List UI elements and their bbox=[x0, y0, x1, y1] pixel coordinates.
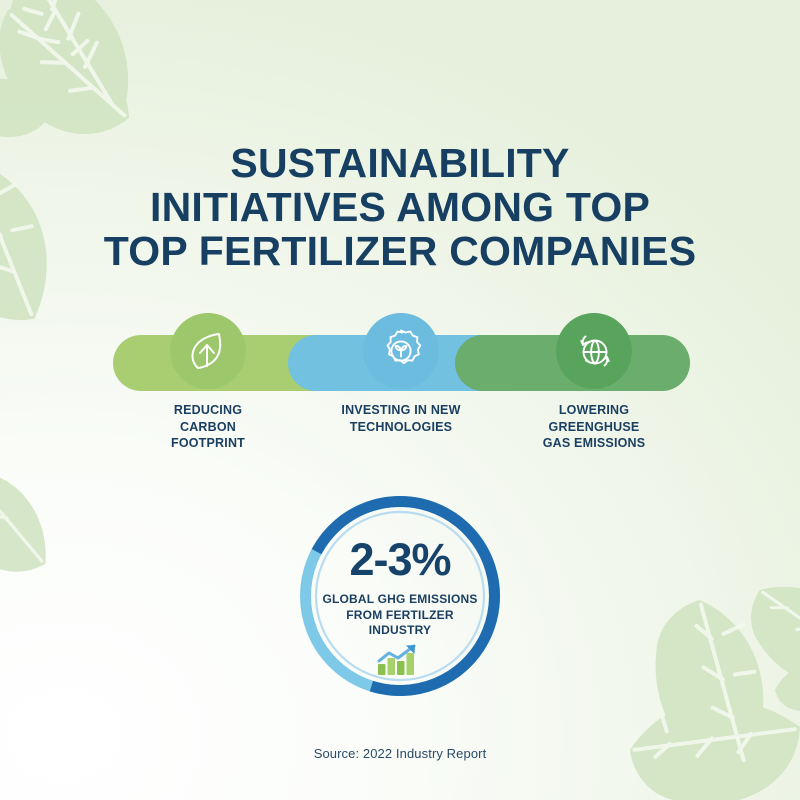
step-badge-3 bbox=[556, 313, 632, 389]
step-badge-1 bbox=[170, 313, 246, 389]
title-line-3: TOP FERTILIZER COMPANIES bbox=[0, 229, 800, 273]
source-note: Source: 2022 Industry Report bbox=[0, 746, 800, 761]
steps-band bbox=[0, 335, 800, 395]
step-label-3: LOWERING GREENGHUSE GAS EMISSIONS bbox=[494, 402, 694, 452]
globe-recycle-icon bbox=[571, 328, 617, 374]
title-line-1: SUSTAINABILITY bbox=[0, 141, 800, 185]
donut-value: 2-3% bbox=[297, 537, 503, 583]
gear-sprout-icon bbox=[377, 327, 425, 375]
step-label-3-line-2: GREENGHUSE bbox=[494, 419, 694, 436]
donut-caption-line-1: GLOBAL GHG EMISSIONS bbox=[297, 592, 503, 608]
donut-stat: 2-3% GLOBAL GHG EMISSIONS FROM FERTILZER… bbox=[297, 493, 503, 699]
donut-caption-line-3: INDUSTRY bbox=[297, 623, 503, 639]
donut-caption-line-2: FROM FERTILZER bbox=[297, 608, 503, 624]
step-label-1: REDUCING CARBON FOOTPRINT bbox=[108, 402, 308, 452]
step-label-3-line-3: GAS EMISSIONS bbox=[494, 435, 694, 452]
step-label-2-line-2: TECHNOLOGIES bbox=[301, 419, 501, 436]
step-label-2: INVESTING IN NEW TECHNOLOGIES bbox=[301, 402, 501, 435]
title-line-2: INITIATIVES AMONG TOP bbox=[0, 185, 800, 229]
donut-caption: GLOBAL GHG EMISSIONS FROM FERTILZER INDU… bbox=[297, 592, 503, 639]
leaf-arrow-up-icon bbox=[185, 328, 231, 374]
step-badge-2 bbox=[363, 313, 439, 389]
donut-center-content: 2-3% GLOBAL GHG EMISSIONS FROM FERTILZER… bbox=[297, 537, 503, 676]
step-label-1-line-2: CARBON bbox=[108, 419, 308, 436]
page-title: SUSTAINABILITY INITIATIVES AMONG TOP TOP… bbox=[0, 141, 800, 273]
step-label-3-line-1: LOWERING bbox=[494, 402, 694, 419]
bar-chart-growth-icon bbox=[376, 644, 424, 676]
step-label-2-line-1: INVESTING IN NEW bbox=[301, 402, 501, 419]
step-label-1-line-1: REDUCING bbox=[108, 402, 308, 419]
donut-chart-icon-wrap bbox=[297, 644, 503, 676]
step-label-1-line-3: FOOTPRINT bbox=[108, 435, 308, 452]
